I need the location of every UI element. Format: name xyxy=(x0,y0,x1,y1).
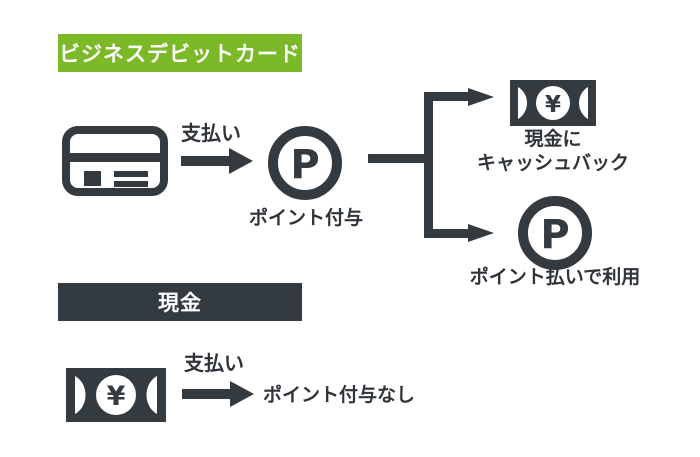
card-to-point-arrow-icon xyxy=(181,148,253,174)
cashback-label-line1: 現金に xyxy=(459,127,647,151)
svg-text:¥: ¥ xyxy=(545,92,561,118)
svg-text:P: P xyxy=(290,142,319,188)
business-debit-card-banner: ビジネスデビットカード xyxy=(58,34,302,72)
card-payment-arrow-label: 支払い xyxy=(181,121,241,147)
svg-text:¥: ¥ xyxy=(107,381,126,412)
diagram-canvas: ビジネスデビットカード 支払い P ポイント付与 xyxy=(0,0,700,457)
cash-banner: 現金 xyxy=(58,283,302,321)
cashback-label-line2: キャッシュバック xyxy=(459,151,647,175)
svg-text:P: P xyxy=(540,212,569,258)
cash-payment-arrow-label: 支払い xyxy=(184,351,244,377)
point-granted-label: ポイント付与 xyxy=(248,206,364,230)
cash-banknote-yen-icon: ¥ xyxy=(66,368,166,422)
cash-to-result-arrow-icon xyxy=(182,381,254,407)
point-granted-circle-icon: P xyxy=(268,126,342,200)
cashback-banknote-yen-icon: ¥ xyxy=(510,80,596,126)
no-points-label: ポイント付与なし xyxy=(263,383,415,407)
point-payment-circle-icon: P xyxy=(518,196,592,270)
point-payment-label: ポイント払いで利用 xyxy=(455,265,655,289)
credit-card-icon xyxy=(62,126,168,196)
